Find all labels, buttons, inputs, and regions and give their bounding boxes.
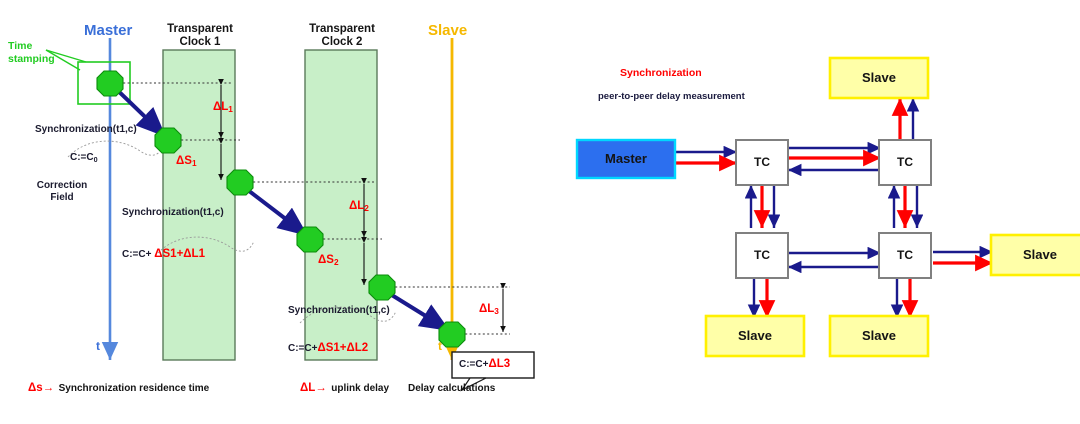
transparent-clock-1-label: Transparent Clock 1 [160, 23, 240, 49]
delay-formula-term: ΔL3 [488, 358, 510, 370]
node-master-send [97, 71, 123, 96]
correction-field-formula-master: C:=C0 [70, 152, 98, 164]
legend-0-text: Synchronization residence time [59, 383, 210, 394]
m4-sym: ΔL [479, 303, 494, 315]
node-tc2-ingress [297, 227, 323, 252]
node-slave-right-label: Slave [991, 235, 1080, 275]
legend-1-text: uplink delay [331, 383, 389, 394]
measure-label-delta-S1: ΔS1 [176, 155, 197, 168]
correction-field-formula-tc2: C:=C+ΔS1+ΔL2 [288, 342, 368, 355]
m3-sym: ΔS [318, 254, 334, 266]
sync-label-master: Synchronization(t1,c) [35, 124, 137, 136]
correction-field-line2: Field [50, 192, 73, 203]
link-tc-top-left-tc-top-right [788, 148, 881, 170]
delay-calculation-formula: C:=C+ΔL3 [459, 358, 510, 371]
node-slave-receive [439, 322, 465, 347]
link-tc-bottom-right-slave-bottom-right [897, 278, 910, 318]
m2-sym: ΔL [349, 200, 364, 212]
node-tc-bottom-right-label: TC [879, 233, 931, 278]
link-tc-top-right-slave-top [900, 98, 913, 140]
sync-label-tc2: Synchronization(t1,c) [288, 305, 390, 317]
node-tc1-egress [227, 170, 253, 195]
slave-column-label: Slave [428, 22, 467, 39]
tc2-label-line2: Clock 2 [322, 36, 363, 48]
measure-label-delta-L3: ΔL3 [479, 303, 499, 316]
m0-sym: ΔL [213, 101, 228, 113]
tc1-label-line1: Transparent [167, 23, 233, 35]
m3-idx: 2 [334, 258, 339, 267]
master-axis-time-label: t [96, 340, 100, 354]
sync-label-tc1: Synchronization(t1,c) [122, 207, 224, 219]
measure-label-delta-L2: ΔL2 [349, 200, 369, 213]
node-master-label: Master [577, 140, 675, 178]
m1-idx: 1 [192, 159, 197, 168]
node-slave-bottom-right-label: Slave [830, 316, 928, 356]
m2-idx: 2 [364, 204, 369, 213]
correction-field-formula-tc1: C:=C+ ΔS1+ΔL1 [122, 248, 205, 261]
cf-terms-2: ΔS1+ΔL2 [317, 342, 368, 354]
diagram-canvas: Master Slave Transparent Clock 1 Transpa… [0, 0, 1080, 424]
right-diagram-title: Synchronization [620, 67, 702, 79]
delay-formula-prefix: C:=C+ [459, 359, 488, 370]
legend-uplink-delay: ΔL→ uplink delay [300, 378, 389, 396]
link-tc-top-right-tc-bottom-right [894, 185, 917, 228]
measure-label-delta-L1: ΔL1 [213, 101, 233, 114]
node-slave-bottom-left-label: Slave [706, 316, 804, 356]
delay-calculation-caption: Delay calculations [408, 383, 495, 395]
cf-prefix-1: C:=C+ [122, 249, 151, 260]
cf-value-0: 0 [94, 155, 98, 164]
correction-field-label: Correction Field [22, 180, 102, 203]
time-stamping-callout-label: Time stamping [8, 40, 55, 65]
link-tc-bottom-left-slave-bottom-left [754, 278, 767, 318]
cf-prefix-0: C:=C [70, 152, 94, 163]
node-tc2-egress [369, 275, 395, 300]
node-tc-top-left-label: TC [736, 140, 788, 185]
cf-terms-1: ΔS1+ΔL1 [154, 248, 205, 260]
node-tc1-ingress [155, 128, 181, 153]
left-diagram: Master Slave Transparent Clock 1 Transpa… [0, 0, 545, 424]
tc2-label-line1: Transparent [309, 23, 375, 35]
master-column-label: Master [84, 22, 132, 39]
correction-field-line1: Correction [37, 180, 88, 191]
transparent-clock-2-label: Transparent Clock 2 [302, 23, 382, 49]
cf-prefix-2: C:=C+ [288, 343, 317, 354]
right-diagram-graphics [545, 0, 1080, 424]
right-diagram-subtitle: peer-to-peer delay measurement [598, 92, 745, 103]
node-tc-top-right-label: TC [879, 140, 931, 185]
time-stamping-line1: Time [8, 40, 32, 52]
m0-idx: 1 [228, 105, 233, 114]
time-stamping-line2: stamping [8, 53, 55, 65]
transparent-clock-1-band [163, 50, 235, 360]
tc1-label-line2: Clock 1 [180, 36, 221, 48]
legend-residence-time: Δs→ Synchronization residence time [28, 378, 209, 396]
legend-1-symbol: ΔL→ [300, 382, 327, 394]
right-diagram: Synchronization peer-to-peer delay measu… [545, 0, 1080, 424]
node-slave-top-label: Slave [830, 58, 928, 98]
slave-axis-time-label: t [438, 340, 442, 354]
m1-sym: ΔS [176, 155, 192, 167]
link-tc-top-left-tc-bottom-left [751, 185, 774, 228]
m4-idx: 3 [494, 307, 499, 316]
link-tc-bottom-left-tc-bottom-right [788, 253, 881, 267]
node-tc-bottom-left-label: TC [736, 233, 788, 278]
measure-label-delta-S2: ΔS2 [318, 254, 339, 267]
link-tc-bottom-right-slave-right [933, 252, 993, 263]
legend-0-symbol: Δs→ [28, 382, 54, 394]
link-master-tc-top-left [675, 152, 737, 163]
